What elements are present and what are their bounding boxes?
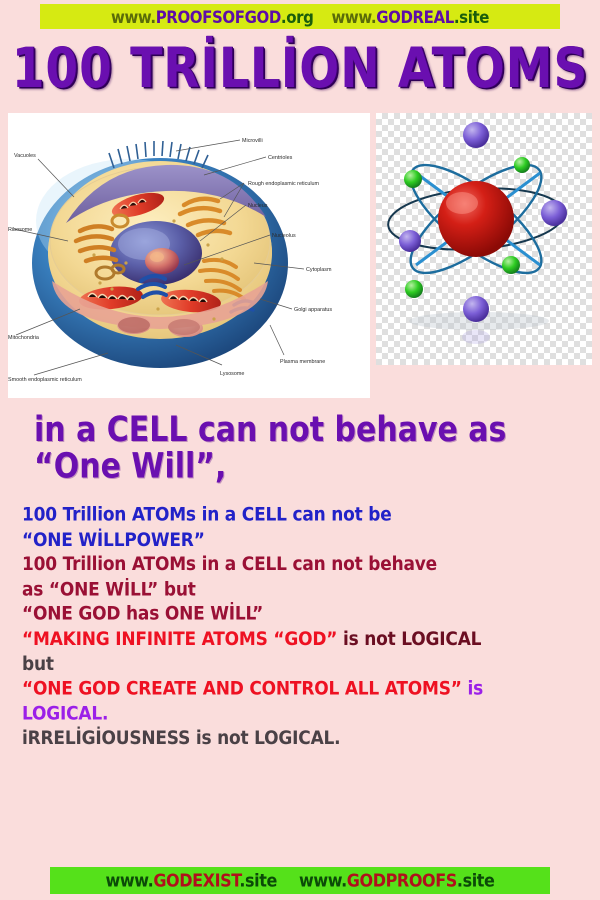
body-line-6: “MAKING INFINITE ATOMS “GOD” is not LOGI… (22, 627, 600, 652)
body-line-4: as “ONE WİLL” but (22, 577, 600, 602)
atom-illustration (376, 113, 592, 365)
cell-illustration: Microvilli Centrioles Rough endoplasmic … (8, 113, 370, 398)
top-banner-container: www.PROOFSOFGOD.org www.GODREAL.site (0, 0, 600, 30)
electron-purple-left (399, 230, 421, 252)
subheading-line-2: “One Will”, (34, 449, 600, 486)
cell-label-rough-er: Rough endoplasmic reticulum (248, 181, 320, 187)
cell-label-golgi: Golgi apparatus (294, 307, 332, 313)
url-suffix: .org (281, 6, 314, 27)
body-line-8: “ONE GOD CREATE AND CONTROL ALL ATOMS” i… (22, 677, 600, 702)
body-segment: “ONE GOD CREATE AND CONTROL ALL ATOMS” (22, 678, 468, 700)
cell-label-smooth-er: Smooth endoplasmic reticulum (8, 377, 82, 383)
body-segment: as “ONE WİLL” but (22, 578, 196, 600)
body-line-2: “ONE WİLLPOWER” (22, 528, 600, 553)
electron-green-upper-right (514, 157, 530, 173)
url-core: GODPROOFS (347, 870, 457, 891)
url-core: GODREAL (376, 6, 454, 27)
cell-label-microvilli: Microvilli (242, 138, 263, 144)
cell-label-cytoplasm: Cytoplasm (306, 267, 332, 273)
cell-label-centrioles: Centrioles (268, 155, 293, 161)
cell-label-ribosome: Ribosome (8, 227, 32, 233)
link-godexist[interactable]: www.GODEXIST.site (106, 870, 277, 891)
electron-purple-top (463, 122, 489, 148)
body-segment: is (468, 678, 484, 700)
electron-green-lower-right (502, 256, 520, 274)
link-godproofs[interactable]: www.GODPROOFS.site (299, 870, 495, 891)
atom-nucleus (438, 181, 514, 257)
figures-row: Microvilli Centrioles Rough endoplasmic … (0, 113, 600, 398)
electron-purple-right (541, 200, 567, 226)
url-suffix: .site (457, 870, 495, 891)
body-segment: “ONE GOD has ONE WİLL” (22, 603, 263, 625)
cell-label-vacuoles: Vacuoles (14, 153, 36, 159)
body-line-10: iRRELİGİOUSNESS is not LOGICAL. (22, 727, 600, 752)
electron-green-upper-left (404, 170, 422, 188)
body-segment: 100 Trillion ATOMs in a CELL can not beh… (22, 554, 437, 576)
body-segment: “ONE WİLLPOWER” (22, 529, 205, 551)
body-segment: 100 Trillion ATOMs in a CELL can not be (22, 504, 392, 526)
body-line-7: but (22, 652, 600, 677)
cell-label-plasma-membrane: Plasma membrane (280, 359, 325, 365)
link-godreal[interactable]: www.GODREAL.site (331, 6, 489, 27)
body-segment: LOGICAL. (22, 703, 108, 725)
body-text-block: 100 Trillion ATOMs in a CELL can not be … (0, 503, 600, 752)
url-prefix: www. (331, 6, 376, 27)
body-line-1: 100 Trillion ATOMs in a CELL can not be (22, 503, 600, 528)
body-line-9: LOGICAL. (22, 702, 600, 727)
url-core: PROOFSOFGOD (156, 6, 281, 27)
electron-purple-bottom (463, 296, 489, 322)
electron-green-lower-left (405, 280, 423, 298)
url-prefix: www. (111, 6, 156, 27)
body-line-5: “ONE GOD has ONE WİLL” (22, 602, 600, 627)
url-core: GODEXIST (153, 870, 239, 891)
url-prefix: www. (299, 870, 347, 891)
link-proofsofgod[interactable]: www.PROOFSOFGOD.org (111, 6, 313, 27)
bottom-banner-container: www.GODEXIST.site www.GODPROOFS.site (0, 867, 600, 894)
cell-label-nucleolus: Nucleolus (272, 233, 296, 239)
atom-model-image (376, 113, 592, 365)
top-banner: www.PROOFSOFGOD.org www.GODREAL.site (40, 4, 560, 29)
body-segment: iRRELİGİOUSNESS is not LOGICAL. (22, 728, 340, 750)
cell-label-mitochondria: Mitochondria (8, 335, 39, 341)
body-segment: is not LOGICAL (343, 628, 481, 650)
url-prefix: www. (106, 870, 154, 891)
body-segment: “MAKING INFINITE ATOMS “GOD” (22, 628, 343, 650)
cell-label-lysosome: Lysosome (220, 371, 244, 377)
url-suffix: .site (239, 870, 277, 891)
subheading-line-1: in a CELL can not behave as (34, 412, 600, 449)
url-suffix: .site (454, 6, 489, 27)
page-title: 100 TRİLLİON ATOMS (0, 34, 600, 101)
animal-cell-diagram: Microvilli Centrioles Rough endoplasmic … (8, 113, 370, 398)
body-line-3: 100 Trillion ATOMs in a CELL can not beh… (22, 553, 600, 578)
bottom-banner: www.GODEXIST.site www.GODPROOFS.site (50, 867, 550, 894)
subheading: in a CELL can not behave as “One Will”, (0, 412, 600, 486)
cell-label-nucleus: Nucleus (248, 203, 268, 209)
body-segment: but (22, 653, 54, 675)
